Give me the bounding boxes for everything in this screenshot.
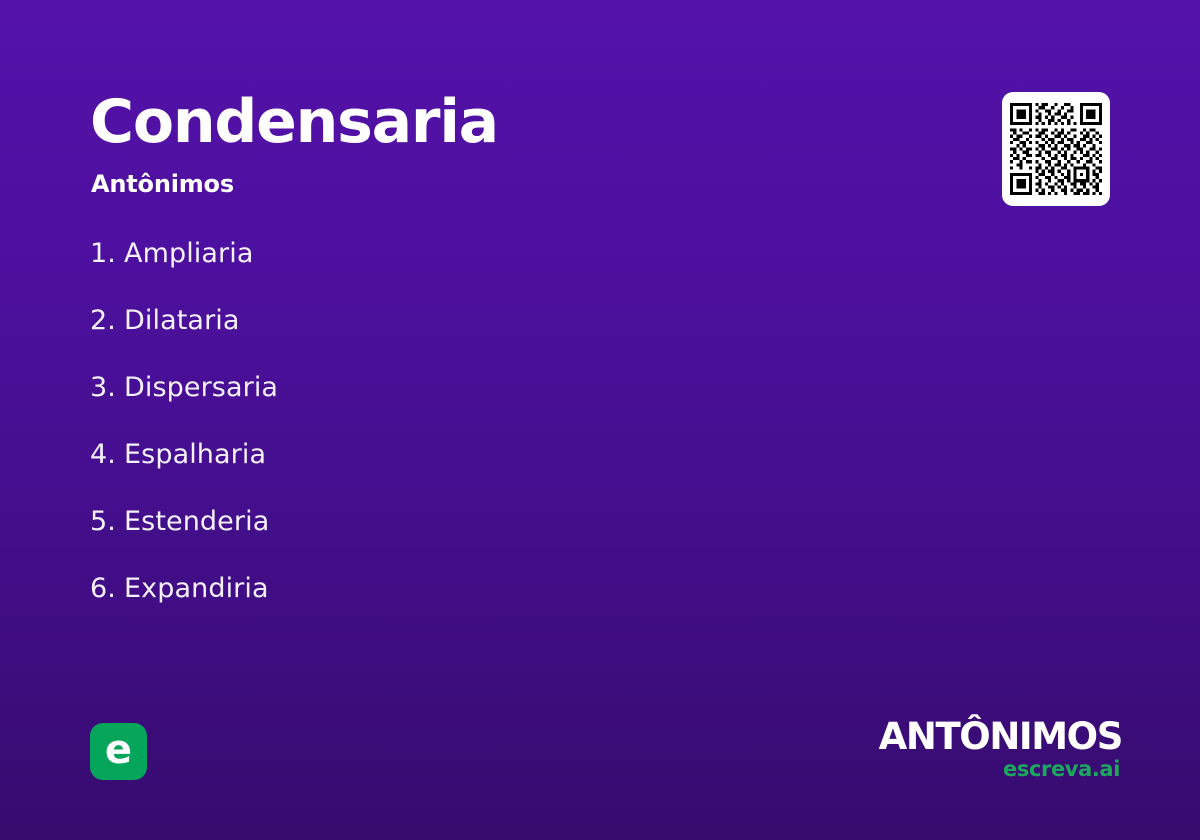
list-item-index: 1. — [90, 236, 124, 272]
footer-logo-subtitle: escreva.ai — [879, 757, 1120, 781]
list-item-index: 6. — [90, 571, 124, 607]
list-item-word: Estenderia — [124, 506, 269, 537]
list-item-word: Espalharia — [124, 439, 266, 470]
list-item-index: 2. — [90, 303, 124, 339]
page-subtitle: Antônimos — [91, 168, 234, 200]
list-item-index: 5. — [90, 504, 124, 540]
list-item: 4.Espalharia — [90, 437, 890, 473]
list-item: 6.Expandiria — [90, 571, 890, 607]
escreva-logo-icon[interactable]: e — [90, 723, 147, 780]
list-item: 1.Ampliaria — [90, 236, 890, 272]
antonym-list: 1.Ampliaria 2.Dilataria 3.Dispersaria 4.… — [90, 236, 890, 607]
antonyms-card: Condensaria Antônimos 1.Ampliaria 2.Dila… — [0, 0, 1200, 840]
qr-code-icon[interactable] — [1002, 92, 1110, 206]
list-item-word: Expandiria — [124, 573, 269, 604]
list-item: 2.Dilataria — [90, 303, 890, 339]
list-item-index: 3. — [90, 370, 124, 406]
list-item: 3.Dispersaria — [90, 370, 890, 406]
footer-logo-title: ANTÔNIMOS — [879, 718, 1122, 756]
brand-mark-letter: e — [105, 730, 132, 770]
list-item-word: Dilataria — [124, 305, 240, 336]
footer-logo[interactable]: ANTÔNIMOS escreva.ai — [879, 718, 1122, 781]
list-item-word: Dispersaria — [124, 372, 278, 403]
page-title: Condensaria — [90, 86, 498, 158]
list-item-index: 4. — [90, 437, 124, 473]
list-item: 5.Estenderia — [90, 504, 890, 540]
list-item-word: Ampliaria — [124, 238, 254, 269]
